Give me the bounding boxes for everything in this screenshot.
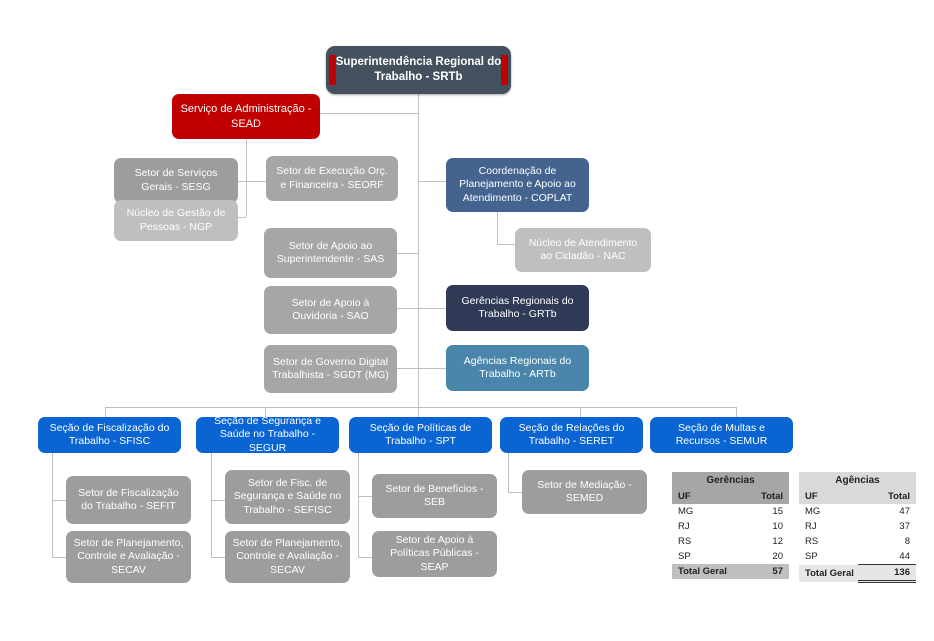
node-label: Gerências Regionais do Trabalho - GRTb [453, 295, 582, 322]
connector-trunk-to-sao [397, 308, 418, 309]
node-seret[interactable]: Seção de Relações do Trabalho - SERET [500, 417, 643, 453]
connector-trunk-to-coplat [418, 181, 446, 182]
connector-spt-trunk [358, 452, 359, 557]
node-label: Setor de Governo Digital Trabalhista - S… [271, 356, 390, 383]
node-label: Núcleo de Gestão de Pessoas - NGP [121, 207, 231, 234]
cell-total: 20 [731, 549, 790, 564]
node-label: Seção de Políticas de Trabalho - SPT [356, 422, 485, 449]
table-caption: Agências [799, 472, 916, 489]
connector-spt-to-seap [358, 557, 372, 558]
node-seorf[interactable]: Setor de Execução Orç. e Financeira - SE… [266, 156, 398, 201]
node-grtb[interactable]: Gerências Regionais do Trabalho - GRTb [446, 285, 589, 331]
node-ngp[interactable]: Núcleo de Gestão de Pessoas - NGP [114, 200, 238, 241]
node-label: Seção de Multas e Recursos - SEMUR [657, 422, 786, 449]
node-sfisc[interactable]: Seção de Fiscalização do Trabalho - SFIS… [38, 417, 181, 453]
node-label: Setor de Apoio ao Superintendente - SAS [271, 240, 390, 267]
node-seap[interactable]: Setor de Apoio à Políticas Públicas - SE… [372, 531, 497, 577]
cell-total: 10 [731, 519, 790, 534]
node-label: Setor de Fisc. de Segurança e Saúde no T… [232, 477, 343, 517]
connector-trunk-to-grtb [418, 308, 446, 309]
node-label: Superintendência Regional do Trabalho - … [333, 55, 504, 84]
table-row: RJ 10 [672, 519, 789, 534]
table-header-row: UF Total [672, 489, 789, 504]
table-header-row: UF Total [799, 489, 916, 504]
cell-uf: RS [672, 534, 731, 549]
table-caption-row: Gerências [672, 472, 789, 489]
cell-uf: SP [672, 549, 731, 564]
connector-seret-to-semed [508, 492, 522, 493]
cell-total: 44 [858, 549, 917, 565]
node-label: Setor de Apoio à Políticas Públicas - SE… [379, 534, 490, 574]
table-footer-row: Total Geral 136 [799, 565, 916, 582]
node-sefit[interactable]: Setor de Fiscalização do Trabalho - SEFI… [66, 476, 191, 524]
table-gerencias: Gerências UF Total MG 15 RJ 10 RS 12 SP … [672, 472, 789, 579]
table-row: SP 44 [799, 549, 916, 565]
connector-trunk-to-sas [397, 253, 418, 254]
connector-sfisc-trunk [52, 452, 53, 557]
node-label: Setor de Benefícios - SEB [379, 483, 490, 510]
table-row: RS 12 [672, 534, 789, 549]
footer-label: Total Geral [672, 564, 731, 579]
footer-total: 57 [731, 564, 790, 579]
table-row: RJ 37 [799, 519, 916, 534]
node-sead[interactable]: Serviço de Administração - SEAD [172, 94, 320, 139]
org-chart-canvas: Superintendência Regional do Trabalho - … [0, 0, 934, 641]
table-row: MG 47 [799, 504, 916, 519]
node-secav-sfisc[interactable]: Setor de Planejamento, Controle e Avalia… [66, 531, 191, 583]
cell-total: 47 [858, 504, 917, 519]
node-nac[interactable]: Núcleo de Atendimento ao Cidadão - NAC [515, 228, 651, 272]
node-label: Setor de Execução Orç. e Financeira - SE… [273, 165, 391, 192]
node-label: Setor de Serviços Gerais - SESG [121, 167, 231, 194]
connector-sfisc-to-sefit [52, 500, 66, 501]
table-row: MG 15 [672, 504, 789, 519]
connector-root-trunk [418, 94, 419, 407]
node-segur[interactable]: Seção de Segurança e Saúde no Trabalho -… [196, 417, 339, 453]
cell-uf: MG [672, 504, 731, 519]
connector-segur-to-secav2 [211, 557, 225, 558]
connector-trunk-to-sgdt [397, 368, 418, 369]
accent-bar-right [501, 55, 508, 85]
node-superintendencia-regional[interactable]: Superintendência Regional do Trabalho - … [326, 46, 511, 94]
node-sas[interactable]: Setor de Apoio ao Superintendente - SAS [264, 228, 397, 278]
node-seb[interactable]: Setor de Benefícios - SEB [372, 474, 497, 518]
node-semed[interactable]: Setor de Mediação - SEMED [522, 470, 647, 514]
footer-total: 136 [858, 565, 917, 582]
node-artb[interactable]: Agências Regionais do Trabalho - ARTb [446, 345, 589, 391]
cell-total: 15 [731, 504, 790, 519]
connector-sead-trunk [246, 139, 247, 217]
cell-uf: SP [799, 549, 858, 565]
node-label: Coordenação de Planejamento e Apoio ao A… [453, 165, 582, 205]
node-spt[interactable]: Seção de Políticas de Trabalho - SPT [349, 417, 492, 453]
node-label: Setor de Apoio à Ouvidoria - SAO [271, 297, 390, 324]
node-sgdt[interactable]: Setor de Governo Digital Trabalhista - S… [264, 345, 397, 393]
connector-sections-bus [105, 407, 736, 408]
cell-uf: MG [799, 504, 858, 519]
node-label: Setor de Mediação - SEMED [529, 479, 640, 506]
node-sao[interactable]: Setor de Apoio à Ouvidoria - SAO [264, 286, 397, 334]
cell-total: 8 [858, 534, 917, 549]
table-agencias: Agências UF Total MG 47 RJ 37 RS 8 SP 44 [799, 472, 916, 583]
connector-coplat-to-nac [497, 244, 515, 245]
column-header-uf: UF [799, 489, 858, 504]
cell-uf: RS [799, 534, 858, 549]
table-caption-row: Agências [799, 472, 916, 489]
connector-segur-trunk [211, 452, 212, 557]
footer-label: Total Geral [799, 565, 858, 582]
node-coplat[interactable]: Coordenação de Planejamento e Apoio ao A… [446, 158, 589, 212]
column-header-uf: UF [672, 489, 731, 504]
node-label: Seção de Segurança e Saúde no Trabalho -… [203, 417, 332, 453]
column-header-total: Total [858, 489, 917, 504]
connector-segur-to-sefisc [211, 500, 225, 501]
node-label: Núcleo de Atendimento ao Cidadão - NAC [522, 237, 644, 264]
node-label: Setor de Planejamento, Controle e Avalia… [73, 537, 184, 577]
connector-trunk-to-artb [418, 368, 446, 369]
connector-seret-trunk [508, 452, 509, 492]
node-sesg[interactable]: Setor de Serviços Gerais - SESG [114, 158, 238, 203]
node-sefisc[interactable]: Setor de Fisc. de Segurança e Saúde no T… [225, 470, 350, 524]
node-secav-segur[interactable]: Setor de Planejamento, Controle e Avalia… [225, 531, 350, 583]
connector-spt-to-seb [358, 496, 372, 497]
node-semur[interactable]: Seção de Multas e Recursos - SEMUR [650, 417, 793, 453]
connector-coplat-trunk [497, 211, 498, 244]
table-caption: Gerências [672, 472, 789, 489]
node-label: Seção de Fiscalização do Trabalho - SFIS… [45, 422, 174, 449]
table-footer-row: Total Geral 57 [672, 564, 789, 579]
node-label: Agências Regionais do Trabalho - ARTb [453, 355, 582, 382]
cell-total: 12 [731, 534, 790, 549]
node-label: Setor de Planejamento, Controle e Avalia… [232, 537, 343, 577]
cell-uf: RJ [672, 519, 731, 534]
node-label: Serviço de Administração - SEAD [179, 102, 313, 130]
accent-bar-left [329, 55, 336, 85]
cell-uf: RJ [799, 519, 858, 534]
cell-total: 37 [858, 519, 917, 534]
table-row: RS 8 [799, 534, 916, 549]
node-label: Seção de Relações do Trabalho - SERET [507, 422, 636, 449]
connector-sfisc-to-secav1 [52, 557, 66, 558]
node-label: Setor de Fiscalização do Trabalho - SEFI… [73, 487, 184, 514]
table-row: SP 20 [672, 549, 789, 564]
column-header-total: Total [731, 489, 790, 504]
